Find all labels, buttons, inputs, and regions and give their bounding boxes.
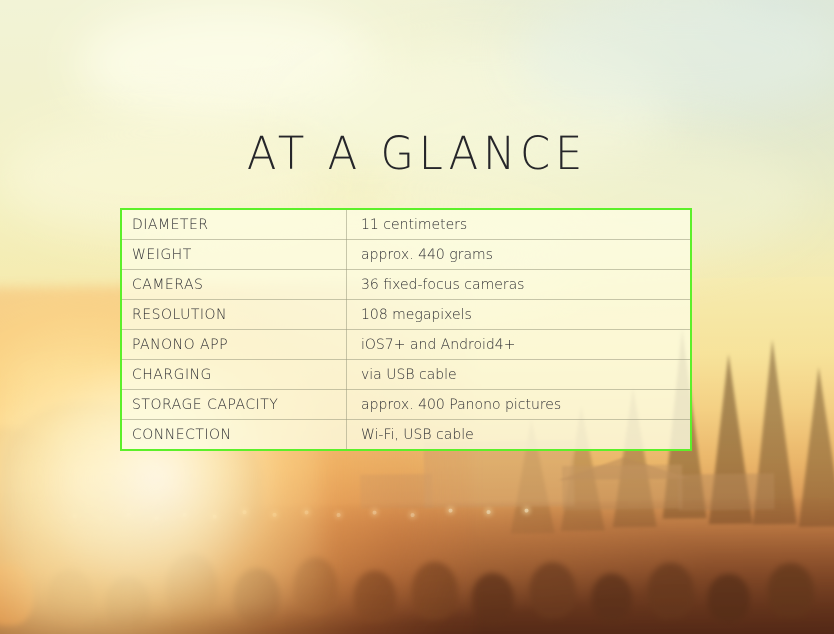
spec-label: STORAGE CAPACITY xyxy=(122,390,347,420)
crowd-figure xyxy=(707,574,750,623)
table-row: STORAGE CAPACITY approx. 400 Panono pict… xyxy=(122,390,690,420)
spec-label: CHARGING xyxy=(122,360,347,390)
table-row: RESOLUTION 108 megapixels xyxy=(122,300,690,330)
spec-value: approx. 440 grams xyxy=(347,240,691,270)
crowd-figure xyxy=(647,562,694,619)
spec-label: CONNECTION xyxy=(122,420,347,450)
table-row: CONNECTION Wi-Fi, USB cable xyxy=(122,420,690,450)
table-row: CAMERAS 36 fixed-focus cameras xyxy=(122,270,690,300)
table-row: WEIGHT approx. 440 grams xyxy=(122,240,690,270)
slide-canvas: AT A GLANCE DIAMETER 11 centimeters WEIG… xyxy=(0,0,834,634)
crowd-figure xyxy=(529,562,576,619)
spec-label: WEIGHT xyxy=(122,240,347,270)
spec-table: DIAMETER 11 centimeters WEIGHT approx. 4… xyxy=(120,208,692,451)
spec-label: RESOLUTION xyxy=(122,300,347,330)
page-title: AT A GLANCE xyxy=(17,127,818,180)
spec-label: DIAMETER xyxy=(122,210,347,240)
spec-table-grid: DIAMETER 11 centimeters WEIGHT approx. 4… xyxy=(122,210,690,449)
spec-value: approx. 400 Panono pictures xyxy=(347,390,691,420)
spec-value: 11 centimeters xyxy=(347,210,691,240)
table-row: CHARGING via USB cable xyxy=(122,360,690,390)
crowd-figure xyxy=(591,573,632,622)
spec-value: 108 megapixels xyxy=(347,300,691,330)
spec-value: 36 fixed-focus cameras xyxy=(347,270,691,300)
spec-table-body: DIAMETER 11 centimeters WEIGHT approx. 4… xyxy=(122,210,690,449)
spec-value: via USB cable xyxy=(347,360,691,390)
spec-value: Wi-Fi, USB cable xyxy=(347,420,691,450)
table-row: PANONO APP iOS7+ and Android4+ xyxy=(122,330,690,360)
spec-label: PANONO APP xyxy=(122,330,347,360)
crowd-figure xyxy=(767,563,814,618)
spec-label: CAMERAS xyxy=(122,270,347,300)
table-row: DIAMETER 11 centimeters xyxy=(122,210,690,240)
crowd-figure xyxy=(471,573,514,624)
spec-value: iOS7+ and Android4+ xyxy=(347,330,691,360)
